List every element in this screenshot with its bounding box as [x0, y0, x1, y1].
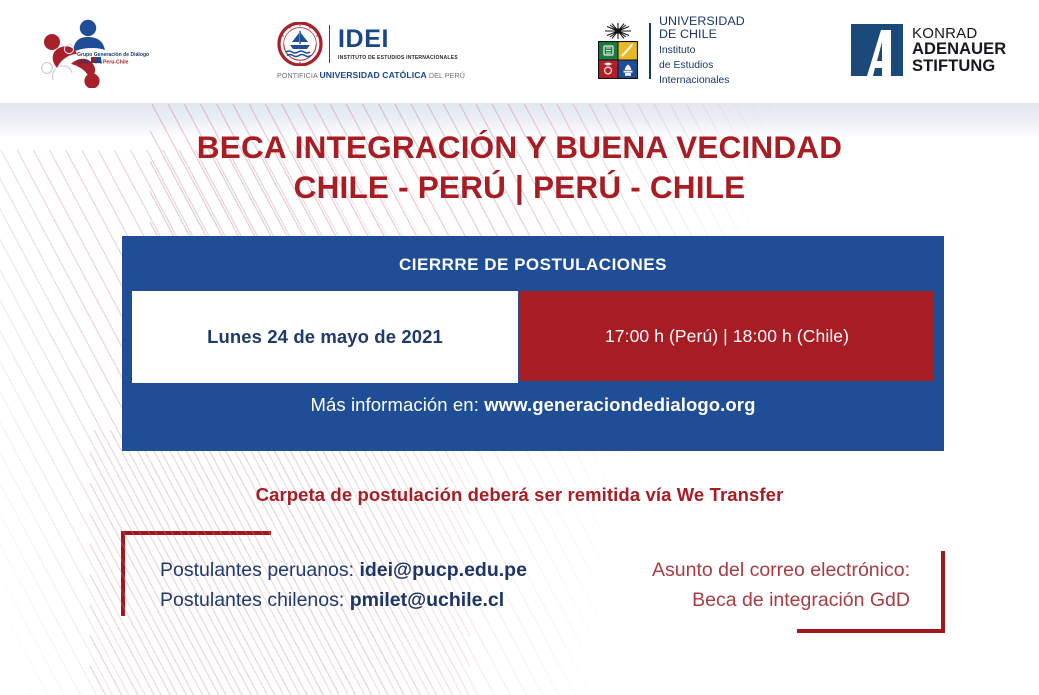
- contact-email-chile[interactable]: pmilet@uchile.cl: [350, 589, 504, 611]
- bracket-top-left-horizontal: [121, 531, 271, 535]
- page-title-line-1: BECA INTEGRACIÓN Y BUENA VECINDAD: [0, 129, 1039, 166]
- contact-label-peru: Postulantes peruanos:: [160, 559, 359, 581]
- kas-a-mark-icon: [851, 24, 903, 76]
- uchile-line-5: Internacionales: [659, 75, 745, 87]
- logo-header-band: Grupo Generación de Diálogo Chile-Perú P…: [0, 0, 1039, 104]
- uchile-line-1: UNIVERSIDAD: [659, 15, 745, 28]
- deadline-date-cell: Lunes 24 de mayo de 2021: [132, 291, 518, 383]
- idei-subtitle: INSTITUTO DE ESTUDIOS INTERNACIONALES: [338, 55, 458, 61]
- deadline-date-value: Lunes 24 de mayo de 2021: [207, 326, 443, 348]
- deadline-panel: CIERRRE DE POSTULACIONES Lunes 24 de may…: [122, 236, 944, 451]
- deadline-time-value: 17:00 h (Perú) | 18:00 h (Chile): [605, 326, 849, 347]
- page-title-line-2: CHILE - PERÚ | PERÚ - CHILE: [0, 169, 1039, 206]
- contact-row-chile: Postulantes chilenos: pmilet@uchile.cl: [160, 585, 580, 615]
- uchile-line-4: de Estudios: [659, 60, 745, 72]
- idei-divider: [329, 25, 330, 63]
- pucp-post: DEL PERÚ: [427, 72, 465, 80]
- pucp-university-line: PONTIFICIA UNIVERSIDAD CATÓLICA DEL PERÚ: [277, 70, 452, 80]
- contact-label-chile: Postulantes chilenos:: [160, 589, 350, 611]
- logo-universidad-de-chile-iei: UNIVERSIDAD DE CHILE Instituto de Estudi…: [595, 20, 765, 86]
- logo-grupo-generacion-de-dialogo: Grupo Generación de Diálogo Chile-Perú P…: [33, 16, 153, 88]
- svg-text:Grupo Generación de Diálogo: Grupo Generación de Diálogo: [77, 52, 149, 58]
- deadline-panel-row: Lunes 24 de mayo de 2021 17:00 h (Perú) …: [132, 291, 944, 383]
- header-divider: [0, 103, 1039, 104]
- gdd-logo-icon: Grupo Generación de Diálogo Chile-Perú P…: [33, 16, 153, 88]
- logo-konrad-adenauer-stiftung: KONRAD ADENAUER STIFTUNG: [851, 24, 1006, 80]
- bracket-bottom-right-vertical: [941, 551, 945, 633]
- uchile-emblem-icon: [595, 22, 641, 80]
- deadline-panel-heading: CIERRRE DE POSTULACIONES: [122, 236, 944, 275]
- more-info-url[interactable]: www.generaciondedialogo.org: [484, 394, 755, 415]
- uchile-line-3: Instituto: [659, 45, 745, 57]
- more-info-line: Más información en: www.generaciondedial…: [122, 394, 944, 416]
- more-info-label: Más información en:: [310, 394, 484, 415]
- bracket-bottom-right-horizontal: [797, 629, 945, 633]
- contact-email-peru[interactable]: idei@pucp.edu.pe: [359, 559, 526, 581]
- contact-emails-column: Postulantes peruanos: idei@pucp.edu.pe P…: [160, 555, 580, 615]
- deadline-time-cell: 17:00 h (Perú) | 18:00 h (Chile): [520, 291, 934, 381]
- email-subject-column: Asunto del correo electrónico: Beca de i…: [560, 555, 910, 615]
- poster-canvas: Grupo Generación de Diálogo Chile-Perú P…: [0, 0, 1039, 695]
- kas-line-2: ADENAUER: [912, 41, 1006, 58]
- email-subject-value: Beca de integración GdD: [560, 585, 910, 615]
- kas-line-3: STIFTUNG: [912, 58, 1006, 75]
- idei-acronym: IDEI: [338, 27, 458, 52]
- pucp-pre: PONTIFICIA: [277, 72, 319, 80]
- page-title: BECA INTEGRACIÓN Y BUENA VECINDAD CHILE …: [0, 129, 1039, 205]
- logo-idei-pucp: IDEI INSTITUTO DE ESTUDIOS INTERNACIONAL…: [277, 22, 452, 84]
- contact-row-peru: Postulantes peruanos: idei@pucp.edu.pe: [160, 555, 580, 585]
- pucp-main: UNIVERSIDAD CATÓLICA: [319, 70, 426, 80]
- submission-instruction: Carpeta de postulación deberá ser remiti…: [0, 484, 1039, 506]
- pucp-crest-icon: [277, 22, 323, 66]
- bracket-top-left-vertical: [121, 531, 125, 616]
- uchile-line-2: DE CHILE: [659, 28, 745, 41]
- kas-line-1: KONRAD: [912, 26, 1006, 41]
- svg-text:Perú-Chile: Perú-Chile: [103, 60, 129, 66]
- email-subject-label: Asunto del correo electrónico:: [560, 555, 910, 585]
- uchile-divider: [649, 23, 651, 79]
- svg-text:Chile-Perú: Chile-Perú: [77, 60, 102, 66]
